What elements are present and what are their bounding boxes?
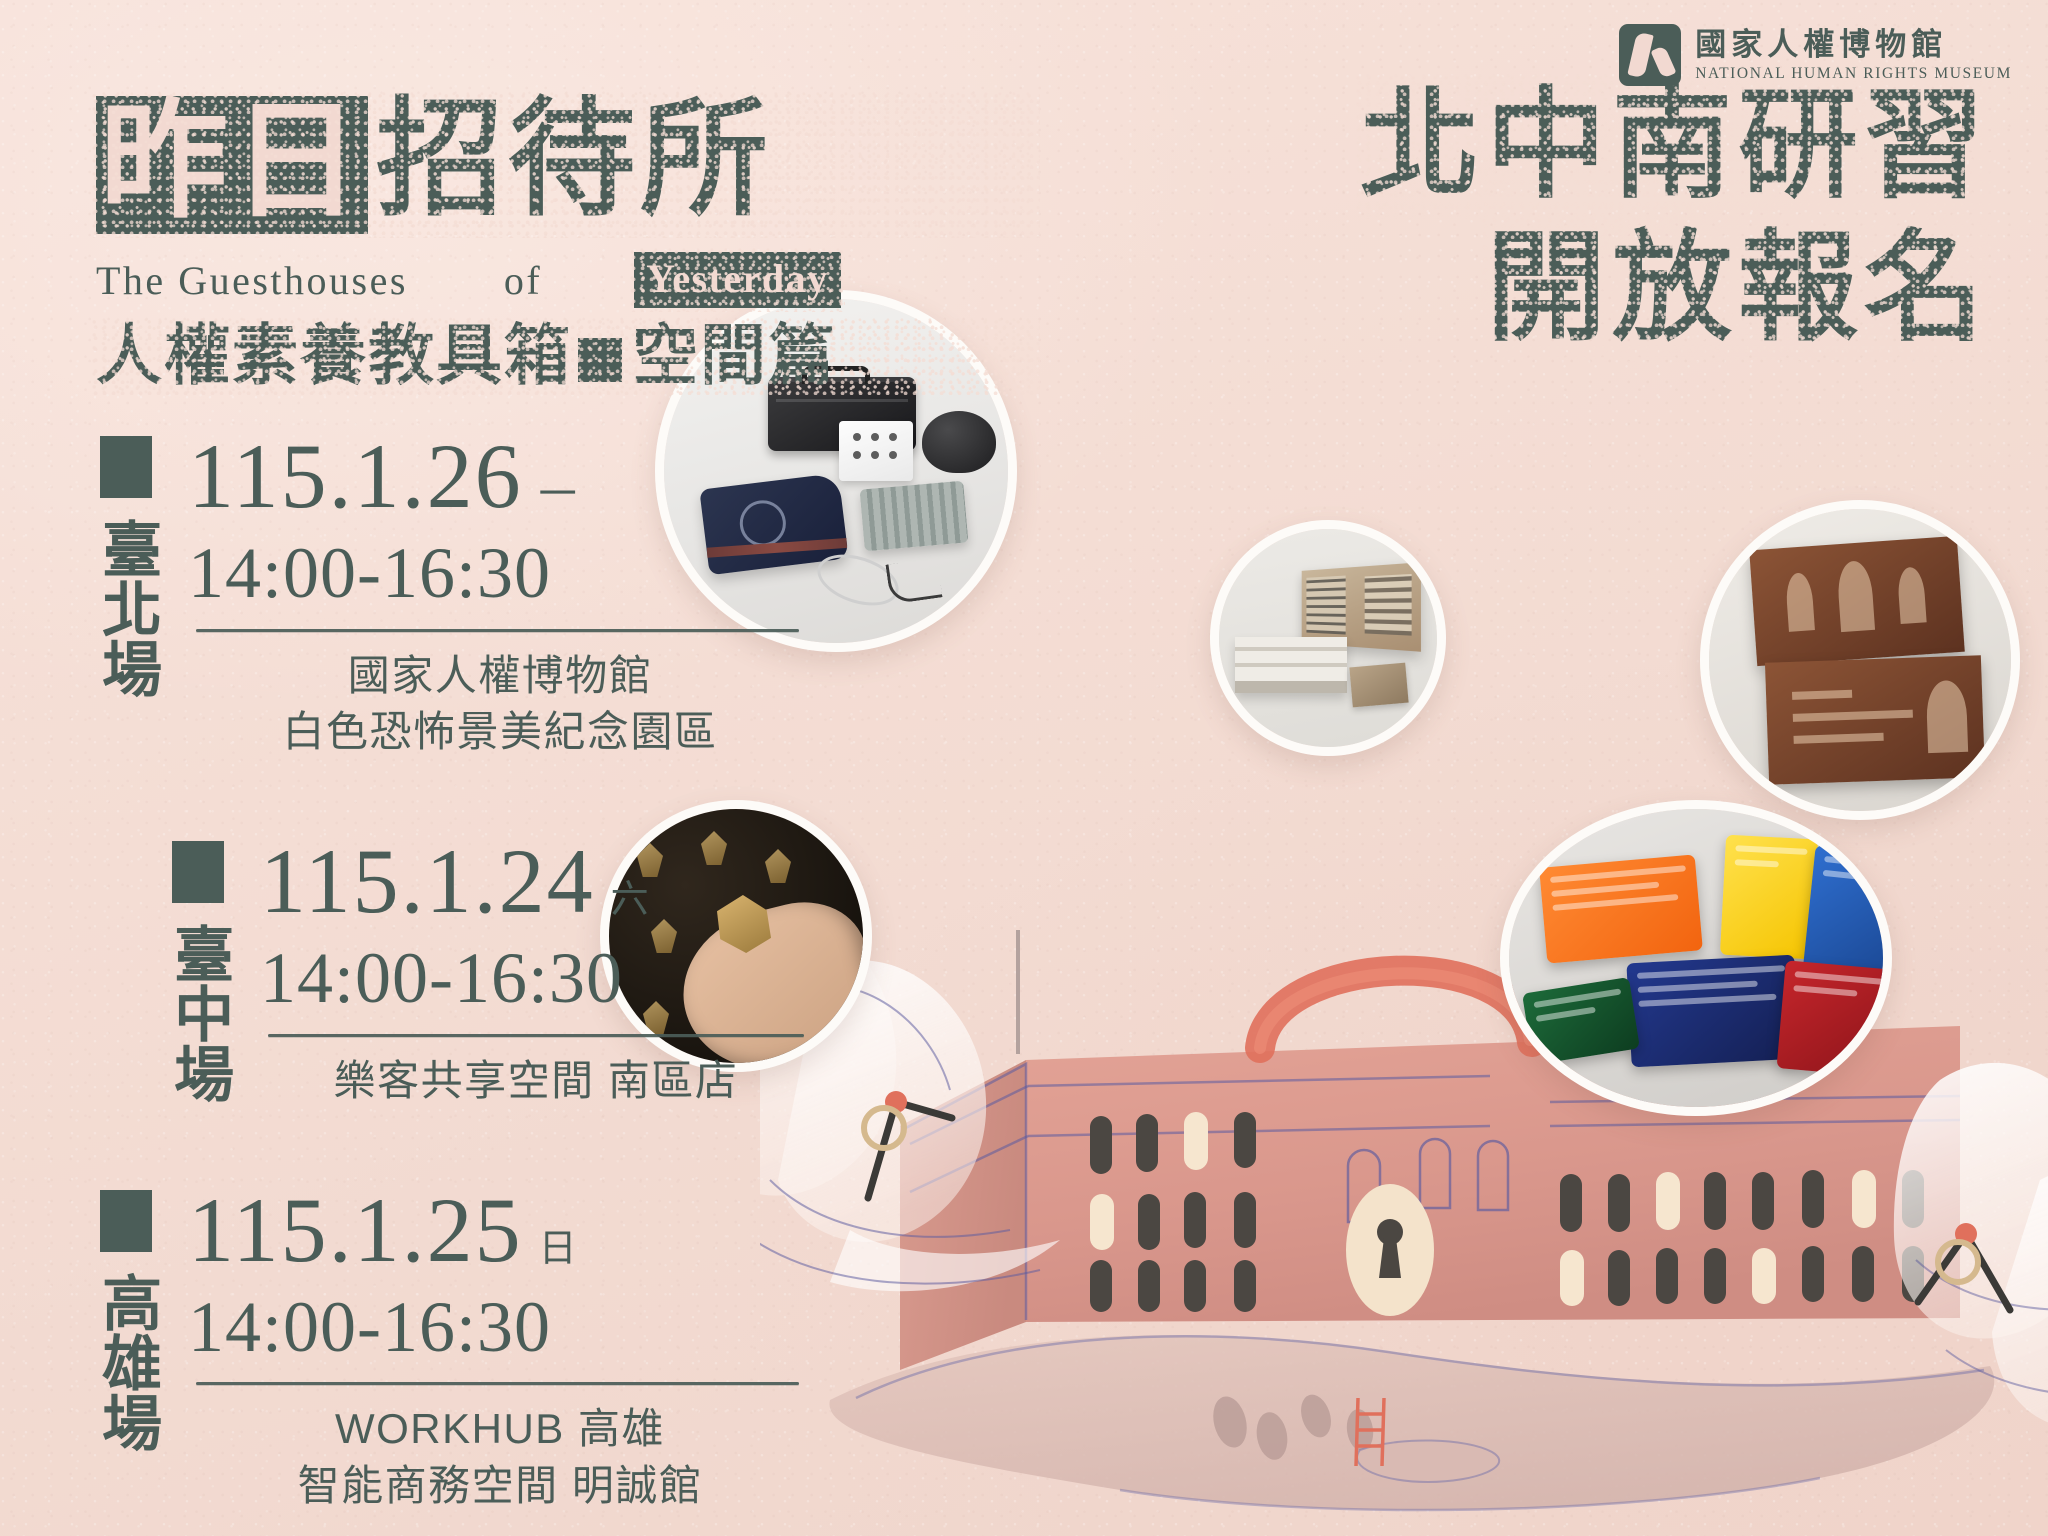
session-time: 14:00-16:30 xyxy=(188,532,830,615)
box-dot-icon xyxy=(871,433,879,441)
main-title-boxed: 昨日 xyxy=(96,96,368,234)
photo-image xyxy=(1709,509,2011,811)
poster-canvas: 國家人權博物館 NATIONAL HUMAN RIGHTS MUSEUM 昨日 … xyxy=(0,0,2048,1536)
page-arch-icon xyxy=(1897,566,1927,624)
session-weekday: 日 xyxy=(539,1217,578,1272)
title-block: 昨日 招待所 The Guesthouses of Yesterday 人權素養… xyxy=(96,96,1036,391)
session-bullet-icon xyxy=(172,841,224,903)
photo-image xyxy=(1509,809,1883,1107)
foam-insert-shape xyxy=(859,481,968,552)
series-subtitle: 人權素養教具箱 空間篇 xyxy=(96,322,1036,391)
book-stack-shape xyxy=(1235,637,1347,693)
session-date: 115.1.24 xyxy=(260,835,595,927)
session-venue-line-2: 白色恐怖景美紀念園區 xyxy=(188,704,812,761)
session-venue-line-2: 智能商務空間 明誠館 xyxy=(188,1458,812,1515)
series-subtitle-a: 人權素養教具箱 xyxy=(96,322,572,391)
museum-name-zh: 國家人權博物館 xyxy=(1695,29,2012,60)
card-green-shape xyxy=(1522,977,1640,1065)
main-title-plain: 招待所 xyxy=(376,96,772,224)
session-venue: WORKHUB 高雄 智能商務空間 明誠館 xyxy=(188,1401,830,1514)
card-yellow-shape xyxy=(1720,835,1818,960)
booklet-stack-photo xyxy=(1210,520,1446,756)
session-time: 14:00-16:30 xyxy=(188,1286,830,1369)
black-pouch-shape xyxy=(922,411,996,473)
box-dot-icon xyxy=(889,433,897,441)
ground-shadow xyxy=(829,1335,1994,1510)
english-subtitle-the: The Guesthouses xyxy=(96,257,408,304)
english-subtitle-yesterday-badge: Yesterday xyxy=(634,252,840,308)
session-divider xyxy=(196,1382,799,1385)
session-time: 14:00-16:30 xyxy=(260,937,830,1020)
box-dot-icon xyxy=(853,433,861,441)
session-city-column: 臺中場 xyxy=(142,835,254,1109)
suitcase-handle xyxy=(1260,971,1532,1048)
white-box-shape xyxy=(839,421,913,481)
session-city-label: 高雄場 xyxy=(92,1272,159,1452)
session-weekday: 六 xyxy=(611,868,650,923)
english-subtitle-of: of xyxy=(504,257,542,304)
card-navy-shape xyxy=(1626,955,1799,1068)
box-dot-icon xyxy=(853,451,861,459)
main-title: 昨日 招待所 xyxy=(96,96,1036,234)
session-venue-line-1: WORKHUB 高雄 xyxy=(188,1401,812,1458)
square-separator-icon xyxy=(578,338,622,382)
card-orange-shape xyxy=(1539,854,1703,963)
session-date: 115.1.26 xyxy=(188,430,523,522)
session-details: 115.1.24 六 14:00-16:30 樂客共享空間 南區店 xyxy=(254,835,830,1109)
card-red-shape xyxy=(1777,960,1892,1077)
flag-pole xyxy=(1018,930,1068,1054)
book-page-lower-shape xyxy=(1765,655,1985,784)
paper-card-shape xyxy=(1349,663,1408,708)
museum-logo-text: 國家人權博物館 NATIONAL HUMAN RIGHTS MUSEUM xyxy=(1695,29,2012,82)
page-arch-icon xyxy=(1926,680,1968,753)
session-details: 115.1.26 一 14:00-16:30 國家人權博物館 白色恐怖景美紀念園… xyxy=(182,430,830,761)
page-arch-icon xyxy=(1836,560,1875,632)
series-subtitle-b: 空間篇 xyxy=(632,322,836,391)
session-schedule: 臺北場 115.1.26 一 14:00-16:30 國家人權博物館 白色恐怖景… xyxy=(70,430,830,1515)
session-city-label: 臺中場 xyxy=(164,923,231,1103)
session-item-kaohsiung: 高雄場 115.1.25 日 14:00-16:30 WORKHUB 高雄 智能… xyxy=(70,1184,830,1515)
session-item-taipei: 臺北場 115.1.26 一 14:00-16:30 國家人權博物館 白色恐怖景… xyxy=(70,430,830,761)
photo-image xyxy=(1219,529,1437,747)
session-dateline: 115.1.24 六 xyxy=(260,835,830,927)
session-city-column: 高雄場 xyxy=(70,1184,182,1515)
english-subtitle: The Guesthouses of Yesterday xyxy=(96,252,1036,308)
page-arch-icon xyxy=(1785,572,1815,632)
headline-block: 北中南研習 開放報名 xyxy=(1190,78,1990,358)
session-dateline: 115.1.26 一 xyxy=(188,430,830,522)
headline-line-2: 開放報名 xyxy=(1486,221,1990,358)
session-divider xyxy=(268,1034,804,1037)
museum-name-en: NATIONAL HUMAN RIGHTS MUSEUM xyxy=(1695,66,2012,82)
session-date: 115.1.25 xyxy=(188,1184,523,1276)
session-weekday: 一 xyxy=(539,463,578,518)
copper-illustrated-book-photo xyxy=(1700,500,2020,820)
keyhole-emblem xyxy=(1346,1184,1434,1316)
box-dot-icon xyxy=(889,451,897,459)
page-line-icon xyxy=(1794,733,1884,744)
page-line-icon xyxy=(1792,690,1852,700)
session-dateline: 115.1.25 日 xyxy=(188,1184,830,1276)
session-item-taichung: 臺中場 115.1.24 六 14:00-16:30 樂客共享空間 南區店 xyxy=(70,835,830,1109)
page-line-icon xyxy=(1793,710,1913,722)
headline-line-1: 北中南研習 xyxy=(1360,78,1990,215)
session-city-column: 臺北場 xyxy=(70,430,182,761)
session-venue-line-1: 樂客共享空間 南區店 xyxy=(260,1053,812,1110)
session-venue: 國家人權博物館 白色恐怖景美紀念園區 xyxy=(188,648,830,761)
museum-logo-mark-icon xyxy=(1619,24,1681,86)
session-bullet-icon xyxy=(100,436,152,498)
session-city-label: 臺北場 xyxy=(92,518,159,698)
box-dot-icon xyxy=(871,451,879,459)
museum-logo: 國家人權博物館 NATIONAL HUMAN RIGHTS MUSEUM xyxy=(1619,24,2012,86)
session-divider xyxy=(196,629,799,632)
card-blue-shape xyxy=(1803,845,1892,979)
session-venue-line-1: 國家人權博物館 xyxy=(188,648,812,705)
session-venue: 樂客共享空間 南區店 xyxy=(260,1053,830,1110)
book-page-upper-shape xyxy=(1749,536,1965,666)
session-bullet-icon xyxy=(100,1190,152,1252)
colour-cards-photo xyxy=(1500,800,1892,1116)
session-details: 115.1.25 日 14:00-16:30 WORKHUB 高雄 智能商務空間… xyxy=(182,1184,830,1515)
